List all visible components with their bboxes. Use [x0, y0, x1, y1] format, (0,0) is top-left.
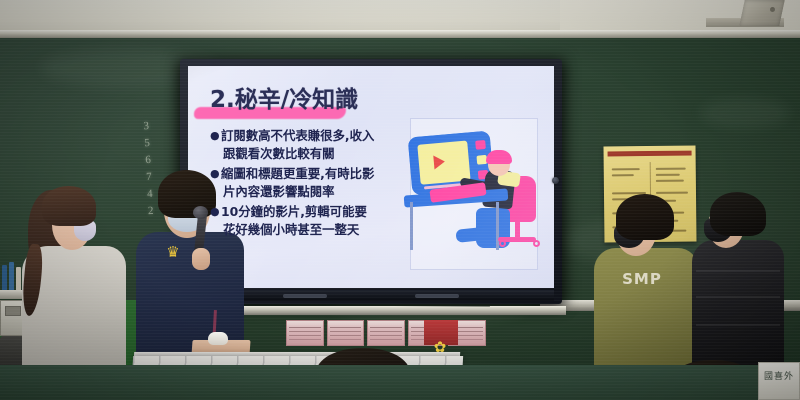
white-item-on-board — [208, 332, 228, 345]
student-olive-sweatshirt: SMP — [594, 194, 698, 380]
projector-wall-mount — [739, 0, 785, 26]
amplifier-display — [5, 306, 21, 316]
chair-wheel — [499, 240, 506, 247]
bullet-item: ● 縮圖和標題更重要,有時比影 片內容還影響點閱率 — [210, 165, 425, 201]
classroom-photo-scene: 3 5 6 7 4 2 — [0, 0, 800, 400]
lower-board — [0, 365, 800, 400]
display-speaker-grille — [283, 294, 327, 298]
hand — [192, 248, 210, 270]
pink-poster — [367, 320, 405, 346]
bullet-line-2: 花好幾個小時甚至一整天 — [221, 221, 425, 239]
bullet-dot-icon: ● — [210, 165, 221, 201]
poster-header-bar — [608, 151, 692, 157]
white-sign: 國喜外 — [758, 362, 800, 400]
bullet-line-1: 縮圖和標題更重要,有時比影 — [221, 166, 374, 181]
chalk-digit: 6 — [135, 151, 162, 169]
bullet-line-2: 片內容還影響點閱率 — [221, 183, 425, 201]
jacket-seam — [696, 296, 780, 298]
person-hat — [486, 150, 512, 164]
bullet-line-2: 跟觀看次數比較有關 — [221, 145, 425, 163]
jacket-seam — [696, 270, 780, 272]
bullet-line-1: 訂閱數高不代表賺很多,收入 — [221, 128, 374, 143]
bullet-item: ● 訂閱數高不代表賺很多,收入 跟觀看次數比較有關 — [210, 127, 425, 163]
monitor-button-icon — [475, 140, 486, 150]
bullet-text: 縮圖和標題更重要,有時比影 片內容還影響點閱率 — [221, 165, 425, 201]
bullet-text: 訂閱數高不代表賺很多,收入 跟觀看次數比較有關 — [221, 127, 425, 163]
hair — [710, 192, 766, 236]
hair — [616, 194, 674, 240]
bullet-item: ● 10分鐘的影片,剪輯可能要 花好幾個小時甚至一整天 — [210, 203, 425, 239]
pink-poster — [286, 320, 324, 346]
slide-illustration — [404, 124, 544, 264]
bullet-dot-icon: ● — [210, 127, 221, 163]
sweatshirt-graphic-text: SMP — [604, 272, 680, 287]
bullet-text: 10分鐘的影片,剪輯可能要 花好幾個小時甚至一整天 — [221, 203, 425, 239]
puffer-jacket — [692, 240, 784, 370]
crown-logo-icon: ♛ — [162, 244, 184, 262]
display-speaker-grille — [415, 294, 459, 298]
hair-front — [42, 186, 96, 226]
pink-poster — [327, 320, 365, 346]
chair-wheel — [533, 240, 540, 247]
jacket-seam — [696, 324, 780, 326]
olive-sweatshirt — [594, 248, 698, 380]
microphone-head — [193, 206, 208, 219]
chalk-digit: 5 — [134, 134, 161, 152]
mount-screw-icon — [770, 7, 775, 12]
play-button-icon — [433, 155, 445, 170]
display-side-button[interactable] — [552, 177, 559, 184]
slide-bullet-list: ● 訂閱數高不代表賺很多,收入 跟觀看次數比較有關 ● 縮圖和標題更重要,有時比… — [210, 127, 425, 239]
bullet-line-1: 10分鐘的影片,剪輯可能要 — [221, 204, 367, 219]
slide-title: 2.秘辛/冷知識 — [210, 80, 358, 114]
chalk-digit: 3 — [133, 117, 160, 135]
bullet-dot-icon: ● — [210, 203, 221, 239]
